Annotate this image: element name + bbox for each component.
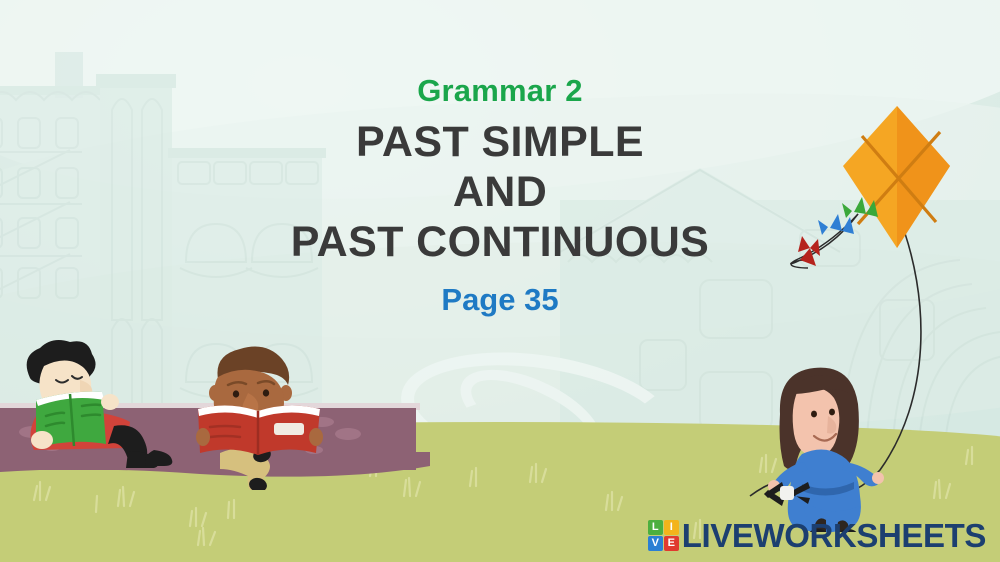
page-number-label: Page 35 [0, 280, 1000, 320]
boy-reading-red-book [196, 345, 324, 490]
logo-wordmark: LIVEWORKSHEETS [682, 519, 986, 552]
logo-block-e: E [664, 536, 679, 551]
liveworksheets-logo[interactable]: L I V E LIVEWORKSHEETS [648, 519, 986, 552]
logo-block-l: L [648, 520, 663, 535]
logo-block-i: I [664, 520, 679, 535]
kite-reel-icon [756, 476, 816, 512]
logo-block-v: V [648, 536, 663, 551]
page-title: PAST SIMPLE AND PAST CONTINUOUS [0, 117, 1000, 268]
lesson-eyebrow: Grammar 2 [0, 72, 1000, 111]
boy-reading-green-book [6, 340, 186, 470]
title-block: Grammar 2 PAST SIMPLE AND PAST CONTINUOU… [0, 72, 1000, 320]
logo-letter-blocks: L I V E [648, 520, 679, 551]
headline-line-2: AND [0, 167, 1000, 217]
slide-canvas: Grammar 2 PAST SIMPLE AND PAST CONTINUOU… [0, 0, 1000, 562]
headline-line-1: PAST SIMPLE [0, 117, 1000, 167]
headline-line-3: PAST CONTINUOUS [0, 217, 1000, 267]
